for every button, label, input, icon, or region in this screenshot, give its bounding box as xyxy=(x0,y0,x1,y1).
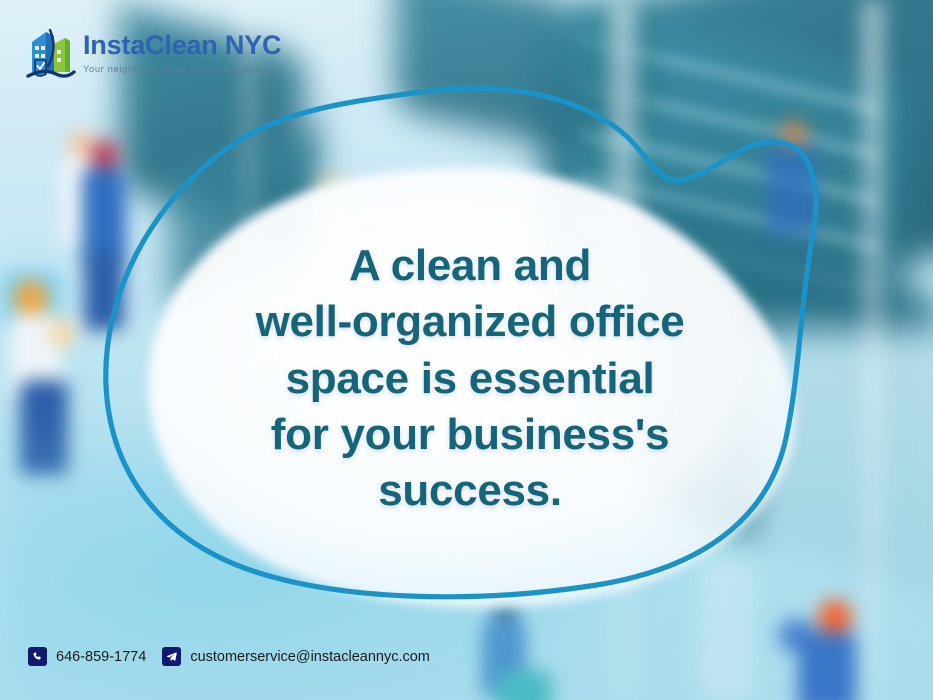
phone-number: 646-859-1774 xyxy=(56,649,146,665)
paper-plane-icon xyxy=(162,647,181,666)
brand-logo[interactable]: InstaClean NYC Your neighborly office cl… xyxy=(24,22,281,84)
contact-email[interactable]: customerservice@instacleannyc.com xyxy=(162,647,430,666)
poster-canvas: InstaClean NYC Your neighborly office cl… xyxy=(0,0,933,700)
headline-line-3: space is essential xyxy=(175,351,765,407)
brand-name: InstaClean NYC xyxy=(83,32,281,59)
background-worker-bottom-right xyxy=(770,590,890,700)
headline-line-4: for your business's xyxy=(175,407,765,463)
headline-line-2: well-organized office xyxy=(175,294,765,350)
buildings-shield-logo-icon xyxy=(24,22,76,84)
headline-line-5: success. xyxy=(175,463,765,519)
brand-tagline: Your neighborly office cleaning solution xyxy=(83,64,281,73)
office-desk-d xyxy=(560,10,650,139)
phone-icon xyxy=(28,647,47,666)
brand-text: InstaClean NYC Your neighborly office cl… xyxy=(83,32,281,73)
contact-phone[interactable]: 646-859-1774 xyxy=(28,647,146,666)
background-person-e xyxy=(760,120,840,270)
headline-line-1: A clean and xyxy=(175,238,765,294)
contact-bar: 646-859-1774 customerservice@instacleann… xyxy=(28,647,430,666)
headline-text: A clean and well-organized office space … xyxy=(175,238,765,520)
email-address: customerservice@instacleannyc.com xyxy=(190,649,430,665)
